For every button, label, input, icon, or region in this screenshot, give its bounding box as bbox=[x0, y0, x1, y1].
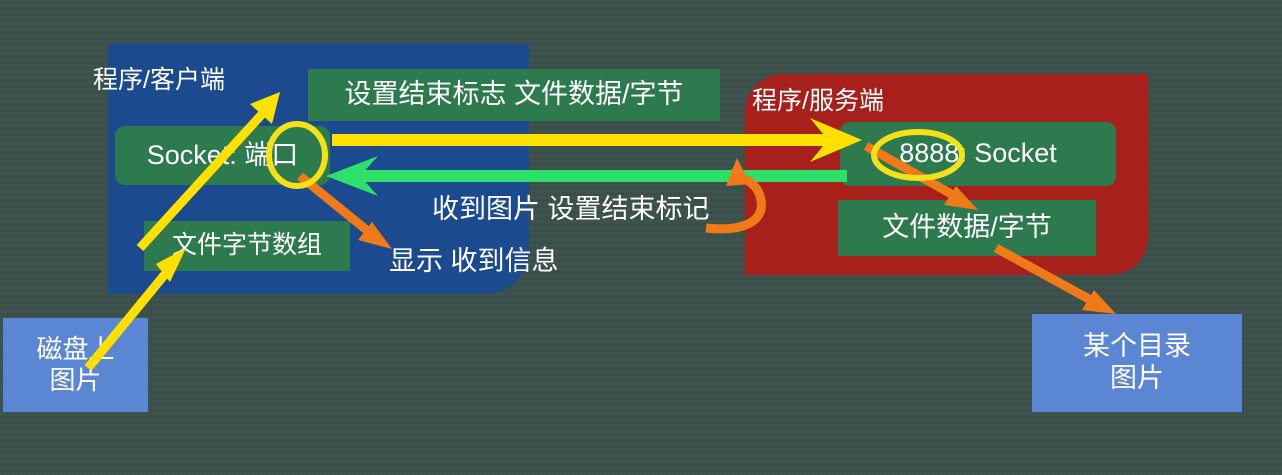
disk-source-line2: 图片 bbox=[49, 365, 101, 396]
receive-image-text: 收到图片 设置结束标记 bbox=[432, 194, 710, 226]
client-socket-label: Socket: 端口 bbox=[147, 140, 299, 172]
send-flag-label: 设置结束标志 文件数据/字节 bbox=[344, 79, 683, 111]
client-file-bytes-box: 文件字节数组 bbox=[144, 221, 350, 271]
server-socket-box: 8888: Socket bbox=[840, 122, 1116, 186]
server-socket-label: 8888: Socket bbox=[899, 138, 1057, 170]
diagram-canvas: 程序/客户端 Socket: 端口 文件字节数组 设置结束标志 文件数据/字节 … bbox=[0, 0, 1282, 475]
send-flag-label-box: 设置结束标志 文件数据/字节 bbox=[308, 69, 720, 121]
client-socket-box: Socket: 端口 bbox=[115, 126, 330, 185]
server-title: 程序/服务端 bbox=[752, 81, 884, 117]
display-info-label: 显示 收到信息 bbox=[389, 244, 639, 280]
server-file-data-box: 文件数据/字节 bbox=[838, 200, 1096, 256]
disk-target-box: 某个目录 图片 bbox=[1032, 314, 1242, 412]
disk-target-line1: 某个目录 bbox=[1083, 331, 1191, 363]
receive-image-label: 收到图片 设置结束标记 bbox=[432, 192, 792, 228]
display-info-text: 显示 收到信息 bbox=[389, 246, 559, 278]
client-title: 程序/客户端 bbox=[93, 60, 225, 96]
client-file-bytes-label: 文件字节数组 bbox=[172, 231, 322, 261]
server-file-data-label: 文件数据/字节 bbox=[882, 212, 1052, 244]
disk-target-line2: 图片 bbox=[1110, 363, 1164, 395]
disk-source-box: 磁盘上 图片 bbox=[3, 318, 148, 412]
disk-source-line1: 磁盘上 bbox=[36, 334, 114, 365]
